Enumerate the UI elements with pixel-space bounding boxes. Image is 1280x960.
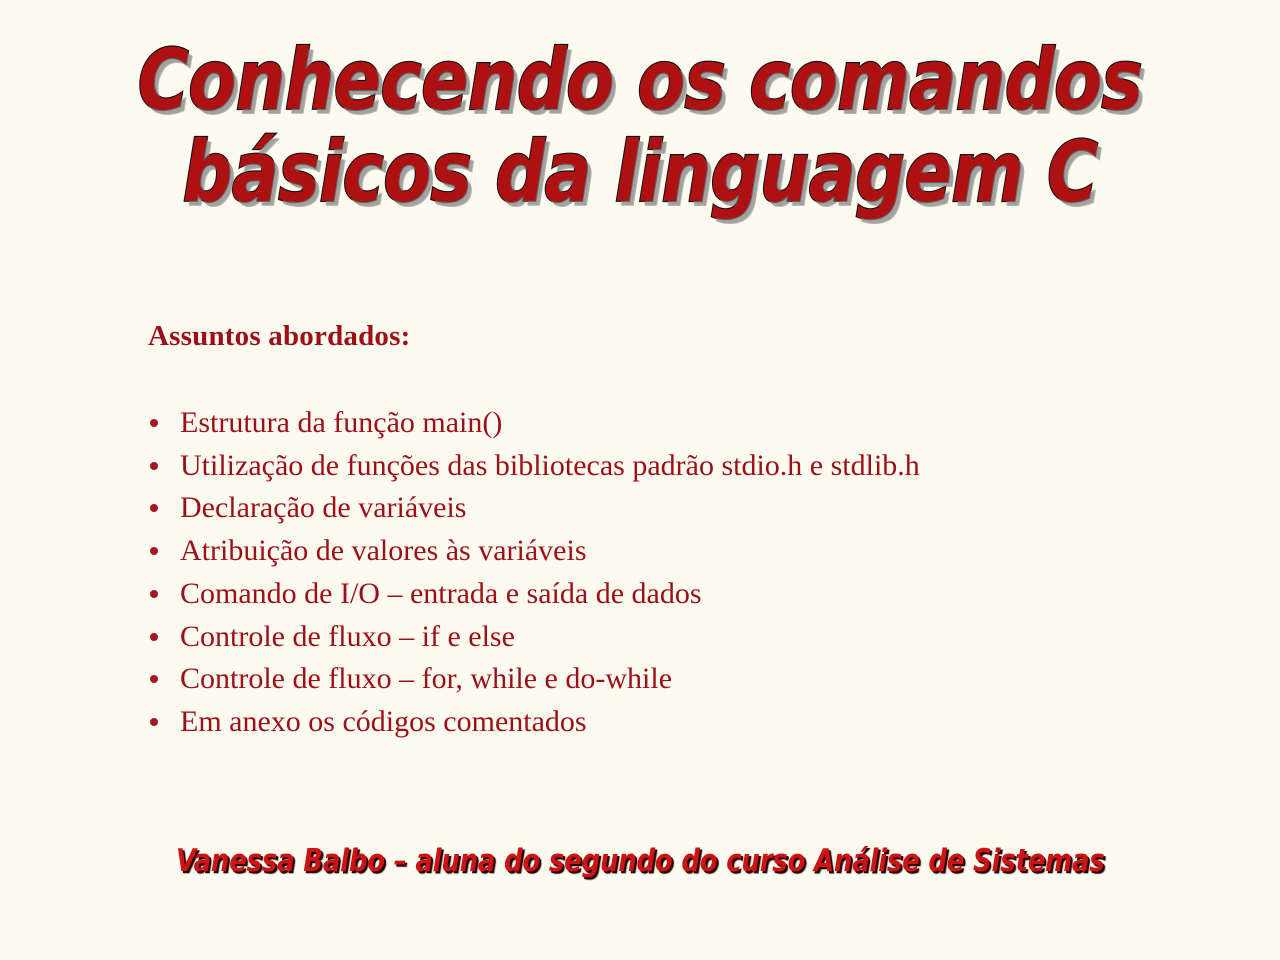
slide-title: Conhecendo os comandos básicos da lingua… <box>0 38 1280 214</box>
list-item: Estrutura da função main() <box>148 402 1148 445</box>
title-line-2: básicos da linguagem C <box>51 130 1229 214</box>
list-item: Atribuição de valores às variáveis <box>148 530 1148 573</box>
topics-list: Estrutura da função main() Utilização de… <box>148 402 1148 744</box>
bullet-dot-icon <box>150 419 158 427</box>
list-item-label: Controle de fluxo – if e else <box>180 620 515 653</box>
list-item: Controle de fluxo – for, while e do-whil… <box>148 658 1148 701</box>
author-credit: Vanessa Balbo – aluna do segundo do curs… <box>176 843 1105 879</box>
list-item-label: Comando de I/O – entrada e saída de dado… <box>180 577 702 610</box>
slide-footer: Vanessa Balbo – aluna do segundo do curs… <box>0 843 1280 879</box>
bullet-dot-icon <box>150 547 158 555</box>
title-line-1: Conhecendo os comandos <box>51 38 1229 122</box>
list-item: Utilização de funções das bibliotecas pa… <box>148 445 1148 488</box>
bullet-dot-icon <box>150 675 158 683</box>
list-item: Declaração de variáveis <box>148 487 1148 530</box>
list-item: Comando de I/O – entrada e saída de dado… <box>148 573 1148 616</box>
list-item-label: Atribuição de valores às variáveis <box>180 534 587 567</box>
list-item-label: Utilização de funções das bibliotecas pa… <box>180 449 920 482</box>
bullet-dot-icon <box>150 462 158 470</box>
list-item-label: Declaração de variáveis <box>180 491 466 524</box>
list-item-label: Estrutura da função main() <box>180 406 502 439</box>
bullet-dot-icon <box>150 718 158 726</box>
list-item: Controle de fluxo – if e else <box>148 616 1148 659</box>
section-heading: Assuntos abordados: <box>148 320 410 353</box>
list-item-label: Controle de fluxo – for, while e do-whil… <box>180 662 672 695</box>
bullet-dot-icon <box>150 504 158 512</box>
list-item-label: Em anexo os códigos comentados <box>180 705 587 738</box>
list-item: Em anexo os códigos comentados <box>148 701 1148 744</box>
bullet-dot-icon <box>150 633 158 641</box>
bullet-dot-icon <box>150 590 158 598</box>
presentation-slide: Conhecendo os comandos básicos da lingua… <box>0 0 1280 960</box>
